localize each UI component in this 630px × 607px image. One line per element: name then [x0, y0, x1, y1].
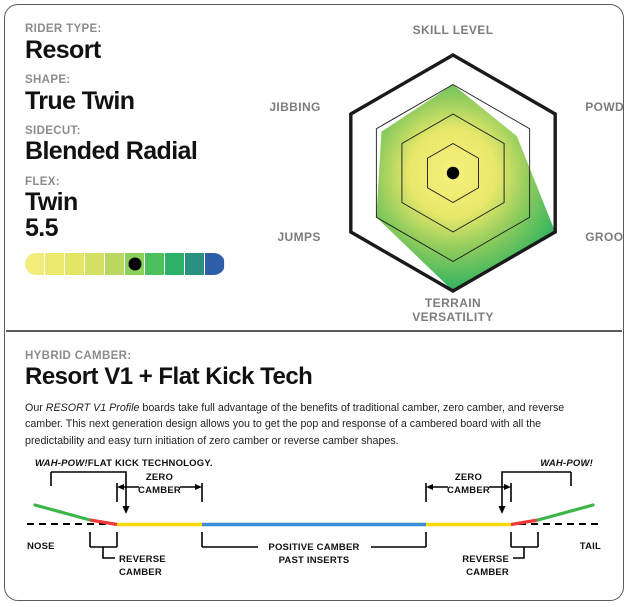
camber-svg: WAH-POW! FLAT KICK TECHNOLOGY. WAH-POW! … — [5, 452, 623, 592]
radar-axis-label-jibbing: JIBBING — [269, 101, 320, 115]
spec-flex-label: FLEX: — [25, 176, 275, 189]
camber-zero-right-line1: ZERO — [455, 472, 482, 483]
camber-reverse-left-line1: REVERSE — [119, 554, 166, 565]
spec-sidecut-label: SIDECUT: — [25, 125, 275, 138]
camber-reverse-nose — [90, 520, 117, 525]
radar-axis-label-groomers: GROOMERS — [585, 231, 624, 245]
leader-reverse-left — [103, 547, 115, 558]
camber-flatkick-left: FLAT KICK TECHNOLOGY. — [88, 458, 213, 469]
top-section: RIDER TYPE: Resort SHAPE: True Twin SIDE… — [5, 5, 623, 330]
flex-meter[interactable] — [25, 253, 225, 275]
camber-reverse-left-line2: CAMBER — [119, 567, 162, 578]
radar-center-marker — [447, 167, 459, 179]
spec-shape-label: SHAPE: — [25, 74, 275, 87]
camber-zero-left-line2: CAMBER — [138, 485, 181, 496]
arrow-zero-right-b — [504, 484, 511, 490]
radar-axis-label-powder: POWDER — [585, 101, 624, 115]
spec-rider-type: RIDER TYPE: Resort — [25, 23, 275, 63]
camber-zero-left-line1: ZERO — [146, 472, 173, 483]
camber-positive-line2: PAST INSERTS — [279, 555, 350, 566]
spec-rider-type-value: Resort — [25, 37, 275, 63]
hybrid-camber-label: HYBRID CAMBER: — [25, 350, 131, 362]
spec-shape-value: True Twin — [25, 88, 275, 114]
arrow-zero-left-a — [117, 484, 124, 490]
spec-list: RIDER TYPE: Resort SHAPE: True Twin SIDE… — [25, 23, 275, 286]
camber-kick-nose — [35, 505, 90, 520]
camber-positive-line1: POSITIVE CAMBER — [268, 542, 359, 553]
desc-emphasis: RESORT V1 Profile — [46, 402, 140, 414]
camber-wahpow-right: WAH-POW! — [540, 458, 593, 469]
camber-reverse-right-line1: REVERSE — [462, 554, 509, 565]
arrow-zero-right-a — [426, 484, 433, 490]
arrow-wahpow-right — [499, 506, 506, 514]
camber-tail-label: TAIL — [580, 541, 601, 552]
radar-chart: SKILL LEVEL POWDER GROOMERS TERRAINVERSA… — [283, 25, 623, 330]
camber-zero-right-line2: CAMBER — [447, 485, 490, 496]
spec-rider-type-label: RIDER TYPE: — [25, 23, 275, 36]
spec-flex-type: Twin — [25, 189, 275, 215]
camber-wahpow-left: WAH-POW! — [35, 458, 88, 469]
spec-sidecut-value: Blended Radial — [25, 138, 275, 164]
leader-wahpow-right — [502, 472, 571, 507]
radar-axis-label-skill-level: SKILL LEVEL — [413, 24, 494, 38]
leader-flatkick-left — [51, 472, 126, 507]
camber-nose-label: NOSE — [27, 541, 55, 552]
flex-segment-4 — [85, 253, 105, 275]
radar-svg — [283, 25, 623, 330]
spec-flex: FLEX: Twin 5.5 — [25, 176, 275, 275]
spec-sidecut: SIDECUT: Blended Radial — [25, 125, 275, 165]
flex-segment-1 — [25, 253, 45, 275]
flex-segment-10 — [205, 253, 225, 275]
flex-segment-3 — [65, 253, 85, 275]
flex-segment-5 — [105, 253, 125, 275]
radar-axis-label-jumps: JUMPS — [277, 231, 320, 245]
hybrid-camber-description: Our RESORT V1 Profile boards take full a… — [25, 400, 603, 449]
flex-segment-7 — [145, 253, 165, 275]
bottom-section: HYBRID CAMBER: Resort V1 + Flat Kick Tec… — [5, 332, 623, 601]
spec-card: RIDER TYPE: Resort SHAPE: True Twin SIDE… — [4, 4, 624, 601]
spec-shape: SHAPE: True Twin — [25, 74, 275, 114]
flex-segment-9 — [185, 253, 205, 275]
camber-kick-tail — [538, 505, 593, 520]
arrow-flatkick-left — [123, 506, 130, 514]
flex-segment-8 — [165, 253, 185, 275]
camber-profile-diagram: WAH-POW! FLAT KICK TECHNOLOGY. WAH-POW! … — [5, 452, 623, 592]
leader-reverse-right — [513, 547, 524, 558]
flex-segment-2 — [45, 253, 65, 275]
camber-reverse-right-line2: CAMBER — [466, 567, 509, 578]
radar-geometry — [329, 49, 577, 297]
radar-axis-label-terrain-versatility: TERRAINVERSATILITY — [412, 297, 494, 325]
desc-pre: Our — [25, 402, 46, 414]
spec-flex-rating: 5.5 — [25, 215, 275, 241]
arrow-zero-left-b — [195, 484, 202, 490]
hybrid-camber-title: Resort V1 + Flat Kick Tech — [25, 363, 312, 391]
flex-meter-marker — [129, 257, 142, 270]
